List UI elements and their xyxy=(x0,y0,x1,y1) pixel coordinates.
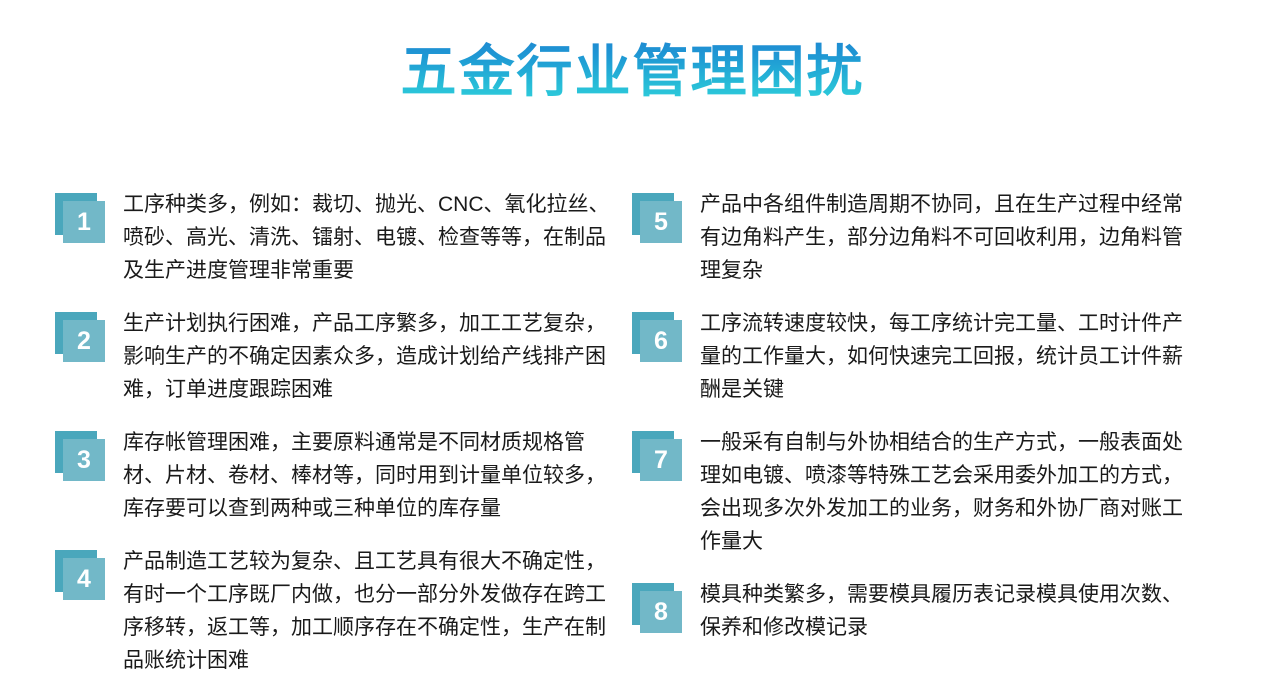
badge-number: 6 xyxy=(640,320,682,362)
badge-number: 3 xyxy=(63,439,105,481)
list-item: 3 库存帐管理困难，主要原料通常是不同材质规格管材、片材、卷材、棒材等，同时用到… xyxy=(55,424,622,525)
list-item-text: 产品制造工艺较为复杂、且工艺具有很大不确定性，有时一个工序既厂内做，也分一部分外… xyxy=(123,543,622,677)
badge-number: 2 xyxy=(63,320,105,362)
list-item-text: 工序流转速度较快，每工序统计完工量、工时计件产量的工作量大，如何快速完工回报，统… xyxy=(700,305,1192,406)
badge-number: 5 xyxy=(640,201,682,243)
right-column: 5 产品中各组件制造周期不协同，且在生产过程中经常有边角料产生，部分边角料不可回… xyxy=(632,186,1265,689)
list-item-text: 模具种类繁多，需要模具履历表记录模具使用次数、保养和修改模记录 xyxy=(700,576,1192,644)
list-item: 6 工序流转速度较快，每工序统计完工量、工时计件产量的工作量大，如何快速完工回报… xyxy=(632,305,1220,406)
list-item-text: 产品中各组件制造周期不协同，且在生产过程中经常有边角料产生，部分边角料不可回收利… xyxy=(700,186,1192,287)
number-badge: 7 xyxy=(632,431,684,487)
number-badge: 2 xyxy=(55,312,107,368)
list-item: 5 产品中各组件制造周期不协同，且在生产过程中经常有边角料产生，部分边角料不可回… xyxy=(632,186,1220,287)
list-item-text: 一般采有自制与外协相结合的生产方式，一般表面处理如电镀、喷漆等特殊工艺会采用委外… xyxy=(700,424,1192,558)
title-container: 五金行业管理困扰 xyxy=(0,40,1265,104)
page-title: 五金行业管理困扰 xyxy=(401,40,865,104)
list-item: 4 产品制造工艺较为复杂、且工艺具有很大不确定性，有时一个工序既厂内做，也分一部… xyxy=(55,543,622,677)
badge-number: 1 xyxy=(63,201,105,243)
list-item-text: 工序种类多，例如：裁切、抛光、CNC、氧化拉丝、喷砂、高光、清洗、镭射、电镀、检… xyxy=(123,186,622,287)
list-item-text: 生产计划执行困难，产品工序繁多，加工工艺复杂，影响生产的不确定因素众多，造成计划… xyxy=(123,305,622,406)
number-badge: 3 xyxy=(55,431,107,487)
number-badge: 6 xyxy=(632,312,684,368)
list-item: 8 模具种类繁多，需要模具履历表记录模具使用次数、保养和修改模记录 xyxy=(632,576,1220,644)
list-item: 1 工序种类多，例如：裁切、抛光、CNC、氧化拉丝、喷砂、高光、清洗、镭射、电镀… xyxy=(55,186,622,287)
badge-number: 7 xyxy=(640,439,682,481)
content-columns: 1 工序种类多，例如：裁切、抛光、CNC、氧化拉丝、喷砂、高光、清洗、镭射、电镀… xyxy=(0,186,1265,689)
number-badge: 4 xyxy=(55,550,107,606)
badge-number: 4 xyxy=(63,558,105,600)
number-badge: 5 xyxy=(632,193,684,249)
slide-canvas: 五金行业管理困扰 1 工序种类多，例如：裁切、抛光、CNC、氧化拉丝、喷砂、高光… xyxy=(0,0,1265,689)
left-column: 1 工序种类多，例如：裁切、抛光、CNC、氧化拉丝、喷砂、高光、清洗、镭射、电镀… xyxy=(0,186,632,689)
list-item: 2 生产计划执行困难，产品工序繁多，加工工艺复杂，影响生产的不确定因素众多，造成… xyxy=(55,305,622,406)
list-item: 7 一般采有自制与外协相结合的生产方式，一般表面处理如电镀、喷漆等特殊工艺会采用… xyxy=(632,424,1220,558)
badge-number: 8 xyxy=(640,591,682,633)
list-item-text: 库存帐管理困难，主要原料通常是不同材质规格管材、片材、卷材、棒材等，同时用到计量… xyxy=(123,424,622,525)
number-badge: 8 xyxy=(632,583,684,639)
number-badge: 1 xyxy=(55,193,107,249)
